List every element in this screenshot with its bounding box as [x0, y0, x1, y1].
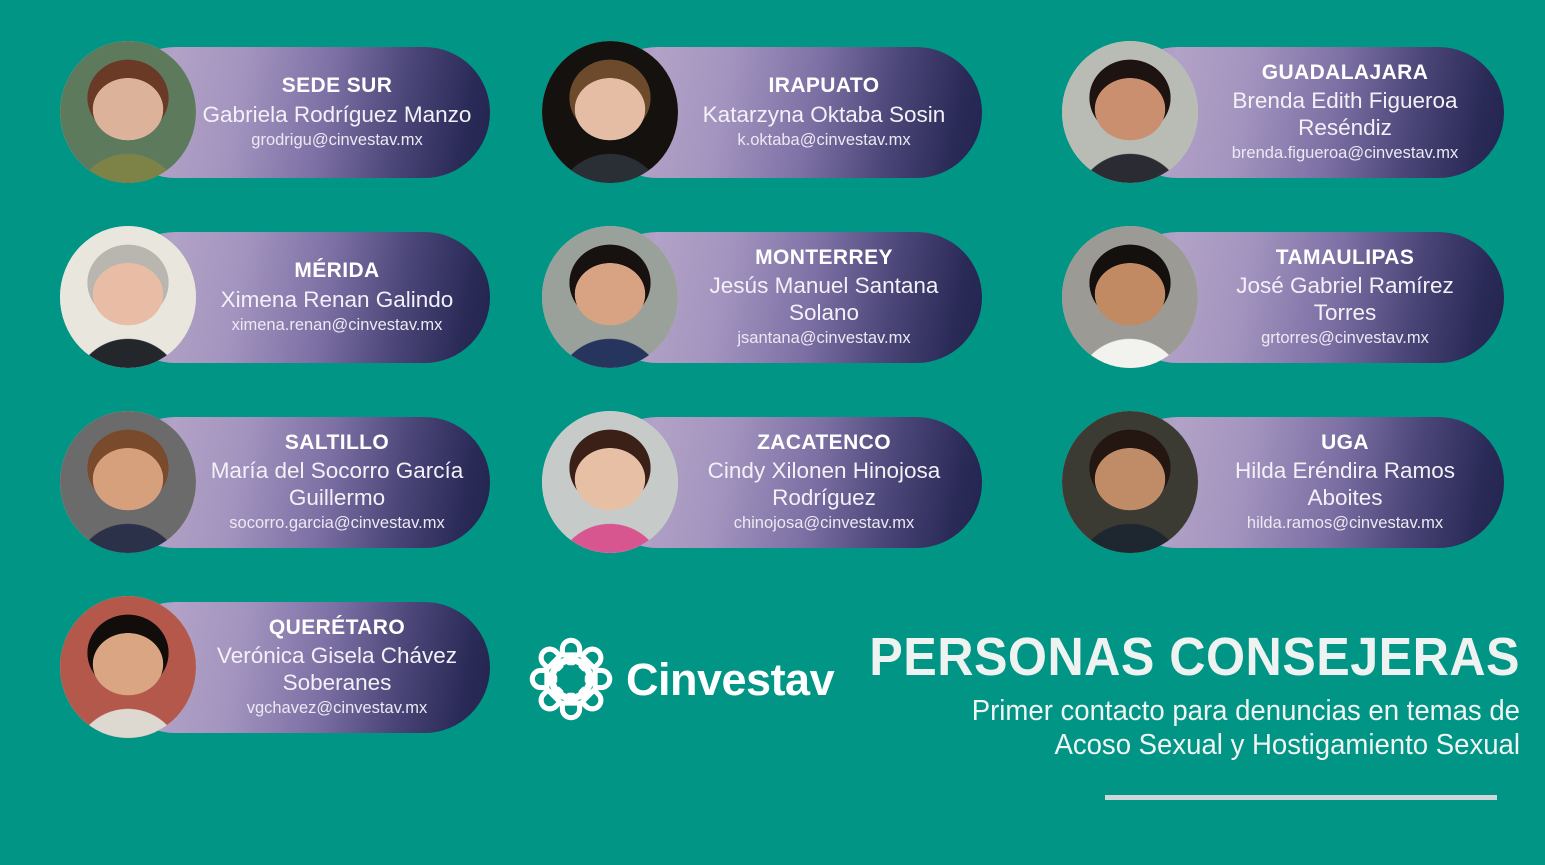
- advisor-person-name: Ximena Renan Galindo: [221, 286, 454, 313]
- advisor-person-name: Jesús Manuel Santana Solano: [684, 272, 964, 326]
- advisor-person-name: Cindy Xilonen Hinojosa Rodríguez: [684, 457, 964, 511]
- avatar-merida: [60, 226, 196, 368]
- advisor-email[interactable]: grodrigu@cinvestav.mx: [251, 131, 422, 151]
- cinvestav-wordmark: Cinvestav: [626, 657, 834, 702]
- poster-subtitle-line-2: Acoso Sexual y Hostigamiento Sexual: [855, 728, 1520, 762]
- advisor-card[interactable]: GUADALAJARABrenda Edith Figueroa Reséndi…: [1112, 47, 1504, 178]
- advisor-email[interactable]: chinojosa@cinvestav.mx: [734, 514, 915, 534]
- avatar-sede-sur: [60, 41, 196, 183]
- advisor-site-name: MONTERREY: [755, 246, 893, 271]
- advisor-site-name: TAMAULIPAS: [1276, 246, 1415, 271]
- advisor-site-name: SALTILLO: [285, 431, 389, 456]
- avatar-photo: [1062, 411, 1198, 553]
- advisor-site-name: SEDE SUR: [282, 74, 393, 99]
- advisor-site-name: MÉRIDA: [294, 259, 379, 284]
- advisor-person-name: Verónica Gisela Chávez Soberanes: [202, 642, 472, 696]
- avatar-photo: [60, 411, 196, 553]
- advisor-site-name: UGA: [1321, 431, 1369, 456]
- avatar-guadalajara: [1062, 41, 1198, 183]
- avatar-tamaulipas: [1062, 226, 1198, 368]
- advisor-email[interactable]: grtorres@cinvestav.mx: [1261, 329, 1429, 349]
- avatar-photo: [1062, 226, 1198, 368]
- advisor-card[interactable]: MÉRIDAXimena Renan Galindoximena.renan@c…: [110, 232, 490, 363]
- advisor-card[interactable]: MONTERREYJesús Manuel Santana Solanojsan…: [592, 232, 982, 363]
- poster-root: SEDE SURGabriela Rodríguez Manzogrodrigu…: [0, 0, 1545, 865]
- footer-title-block: PERSONAS CONSEJERAS Primer contacto para…: [820, 630, 1520, 763]
- advisor-email[interactable]: socorro.garcia@cinvestav.mx: [229, 514, 444, 534]
- advisor-email[interactable]: vgchavez@cinvestav.mx: [247, 699, 428, 719]
- advisor-email[interactable]: brenda.figueroa@cinvestav.mx: [1232, 144, 1458, 164]
- advisor-email[interactable]: ximena.renan@cinvestav.mx: [232, 316, 443, 336]
- advisor-card[interactable]: TAMAULIPASJosé Gabriel Ramírez Torresgrt…: [1112, 232, 1504, 363]
- avatar-monterrey: [542, 226, 678, 368]
- advisor-person-name: Gabriela Rodríguez Manzo: [203, 101, 472, 128]
- title-underline-rule: [1105, 795, 1497, 800]
- avatar-photo: [60, 41, 196, 183]
- advisor-card[interactable]: SEDE SURGabriela Rodríguez Manzogrodrigu…: [110, 47, 490, 178]
- poster-subtitle: Primer contacto para denuncias en temas …: [855, 694, 1520, 762]
- advisor-site-name: ZACATENCO: [757, 431, 891, 456]
- advisor-site-name: GUADALAJARA: [1262, 61, 1429, 86]
- brand-block: Cinvestav: [528, 624, 828, 734]
- advisor-site-name: IRAPUATO: [769, 74, 880, 99]
- cinvestav-gear-logo-icon: [528, 636, 614, 722]
- advisor-card[interactable]: ZACATENCOCindy Xilonen Hinojosa Rodrígue…: [592, 417, 982, 548]
- avatar-uga: [1062, 411, 1198, 553]
- advisor-site-name: QUERÉTARO: [269, 616, 405, 641]
- poster-subtitle-line-1: Primer contacto para denuncias en temas …: [972, 695, 1520, 727]
- avatar-saltillo: [60, 411, 196, 553]
- advisor-card[interactable]: IRAPUATOKatarzyna Oktaba Sosink.oktaba@c…: [592, 47, 982, 178]
- advisor-person-name: José Gabriel Ramírez Torres: [1204, 272, 1486, 326]
- avatar-photo: [542, 226, 678, 368]
- advisor-card[interactable]: SALTILLOMaría del Socorro García Guiller…: [110, 417, 490, 548]
- avatar-photo: [60, 226, 196, 368]
- avatar-photo: [1062, 41, 1198, 183]
- advisor-person-name: María del Socorro García Guillermo: [202, 457, 472, 511]
- advisor-card[interactable]: QUERÉTAROVerónica Gisela Chávez Soberane…: [110, 602, 490, 733]
- avatar-irapuato: [542, 41, 678, 183]
- poster-title: PERSONAS CONSEJERAS: [869, 630, 1520, 685]
- avatar-photo: [542, 411, 678, 553]
- avatar-zacatenco: [542, 411, 678, 553]
- advisor-card[interactable]: UGAHilda Eréndira Ramos Aboiteshilda.ram…: [1112, 417, 1504, 548]
- avatar-photo: [542, 41, 678, 183]
- avatar-queretaro: [60, 596, 196, 738]
- advisor-email[interactable]: hilda.ramos@cinvestav.mx: [1247, 514, 1443, 534]
- advisor-person-name: Katarzyna Oktaba Sosin: [703, 101, 946, 128]
- advisor-person-name: Hilda Eréndira Ramos Aboites: [1204, 457, 1486, 511]
- avatar-photo: [60, 596, 196, 738]
- advisor-email[interactable]: k.oktaba@cinvestav.mx: [737, 131, 910, 151]
- advisor-email[interactable]: jsantana@cinvestav.mx: [737, 329, 910, 349]
- advisor-person-name: Brenda Edith Figueroa Reséndiz: [1204, 87, 1486, 141]
